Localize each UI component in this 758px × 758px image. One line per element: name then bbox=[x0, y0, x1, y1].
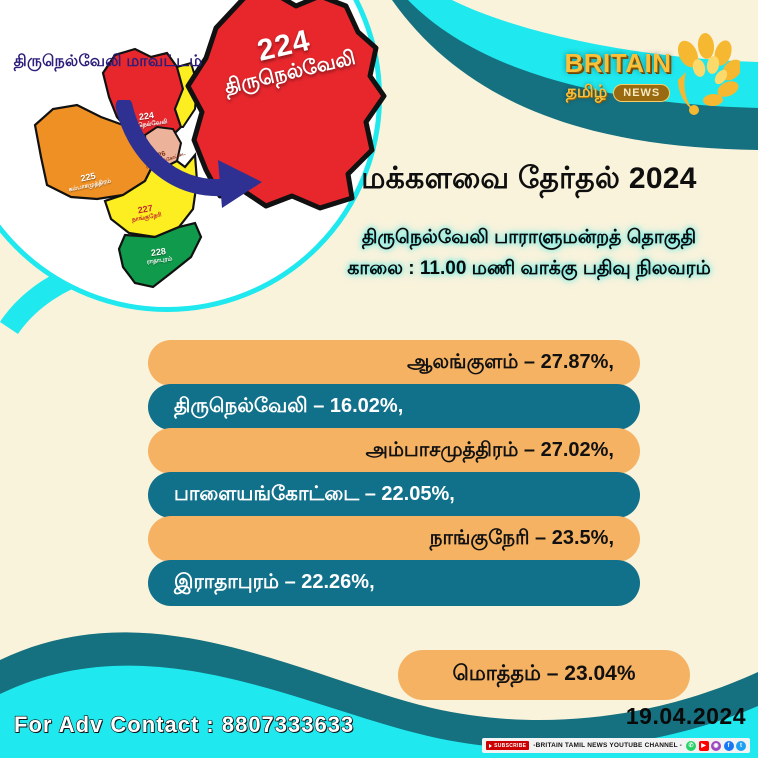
play-icon bbox=[489, 744, 492, 748]
social-icons: ✆ ▶ ◉ f t bbox=[686, 741, 746, 751]
channel-name-text: -BRITAIN TAMIL NEWS YOUTUBE CHANNEL - bbox=[533, 742, 682, 749]
total-label: மொத்தம் – 23.04% bbox=[452, 662, 635, 688]
result-row-label: நாங்குநேரி – 23.5%, bbox=[430, 527, 614, 552]
britain-tamil-news-logo[interactable]: BRITAIN தமிழ் NEWS bbox=[554, 32, 740, 124]
logo-britain-text: BRITAIN bbox=[554, 48, 682, 79]
total-row: மொத்தம் – 23.04% bbox=[398, 650, 690, 700]
logo-tamil-text: தமிழ் bbox=[566, 82, 608, 104]
result-row-3: அம்பாசமுத்திரம் – 27.02%, bbox=[148, 428, 640, 474]
page-title: மக்களவை தேர்தல் 2024 bbox=[300, 160, 758, 198]
result-row-1: ஆலங்குளம் – 27.87%, bbox=[148, 340, 640, 386]
results-list: ஆலங்குளம் – 27.87%, திருநெல்வேலி – 16.02… bbox=[148, 340, 640, 604]
date-stamp: 19.04.2024 bbox=[626, 703, 746, 730]
subtitle-block: திருநெல்வேலி பாராளுமன்றத் தொகுதி காலை : … bbox=[300, 224, 758, 283]
twitter-icon[interactable]: t bbox=[736, 741, 746, 751]
result-row-label: பாளையங்கோட்டை – 22.05%, bbox=[174, 483, 455, 508]
result-row-6: இராதாபுரம் – 22.26%, bbox=[148, 560, 640, 606]
whatsapp-icon[interactable]: ✆ bbox=[686, 741, 696, 751]
result-row-label: இராதாபுரம் – 22.26%, bbox=[174, 571, 375, 596]
youtube-icon[interactable]: ▶ bbox=[699, 741, 709, 751]
instagram-icon[interactable]: ◉ bbox=[711, 741, 721, 751]
district-label: திருநெல்வேலி மாவட்டம் bbox=[8, 52, 208, 72]
adv-contact-text: For Adv Contact : 8807333633 bbox=[14, 712, 354, 738]
result-row-5: நாங்குநேரி – 23.5%, bbox=[148, 516, 640, 562]
logo-text: BRITAIN தமிழ் NEWS bbox=[554, 48, 682, 104]
result-row-2: திருநெல்வேலி – 16.02%, bbox=[148, 384, 640, 430]
map-segment-228: 228 ராதாபுரம் bbox=[131, 244, 187, 268]
headline-block: மக்களவை தேர்தல் 2024 திருநெல்வேலி பாராளு… bbox=[300, 160, 758, 283]
time-status-text: காலை : 11.00 மணி வாக்கு பதிவு நிலவரம் bbox=[300, 255, 758, 283]
result-row-4: பாளையங்கோட்டை – 22.05%, bbox=[148, 472, 640, 518]
curved-arrow-icon bbox=[110, 100, 280, 230]
logo-news-badge: NEWS bbox=[613, 84, 670, 102]
election-infographic-poster: 224 திருநெல்வேலி 225 கம்பாசமுத்திரம் 226… bbox=[0, 0, 758, 758]
youtube-channel-bar[interactable]: SUBSCRIBE -BRITAIN TAMIL NEWS YOUTUBE CH… bbox=[482, 738, 750, 753]
subscribe-button[interactable]: SUBSCRIBE bbox=[486, 741, 529, 750]
constituency-name: திருநெல்வேலி பாராளுமன்றத் தொகுதி bbox=[362, 227, 696, 248]
result-row-label: திருநெல்வேலி – 16.02%, bbox=[174, 395, 403, 420]
result-row-label: ஆலங்குளம் – 27.87%, bbox=[407, 351, 614, 376]
subscribe-label: SUBSCRIBE bbox=[494, 743, 526, 749]
facebook-icon[interactable]: f bbox=[724, 741, 734, 751]
result-row-label: அம்பாசமுத்திரம் – 27.02%, bbox=[366, 439, 614, 464]
